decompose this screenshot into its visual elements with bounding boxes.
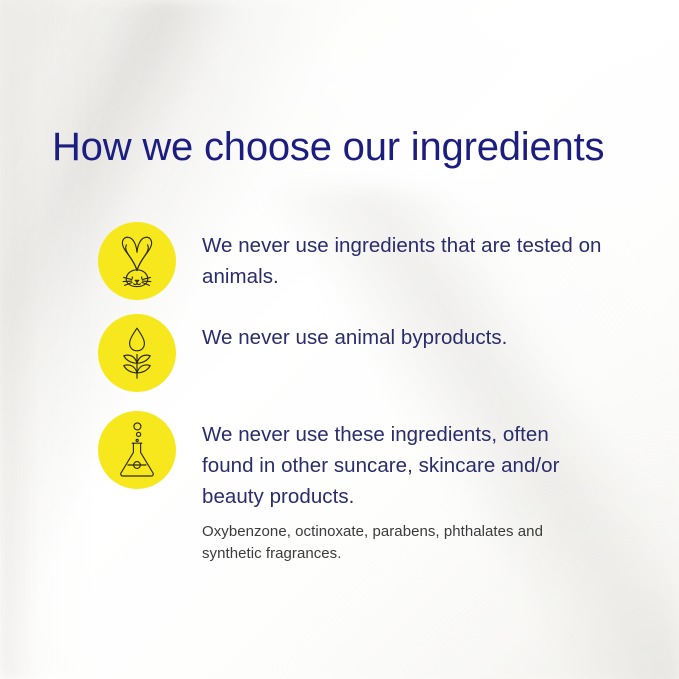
list-item: We never use these ingredients, often fo… [98,411,602,565]
list-item-label: We never use these ingredients, often fo… [202,419,602,512]
list-item-content: We never use ingredients that are tested… [202,222,602,292]
content-root: How we choose our ingredients [0,0,679,679]
list-item: We never use animal byproducts. [98,314,507,392]
page-title: How we choose our ingredients [52,122,604,172]
list-item-content: We never use animal byproducts. [202,314,507,353]
bunny-heart-ears-icon [98,222,176,300]
list-item-label: We never use ingredients that are tested… [202,230,602,292]
list-item-content: We never use these ingredients, often fo… [202,411,602,565]
list-item-note: Oxybenzone, octinoxate, parabens, phthal… [202,521,562,565]
plant-sprig-leaf-icon [98,314,176,392]
list-item: We never use ingredients that are tested… [98,222,602,300]
list-item-label: We never use animal byproducts. [202,322,507,353]
erlenmeyer-flask-icon [98,411,176,489]
